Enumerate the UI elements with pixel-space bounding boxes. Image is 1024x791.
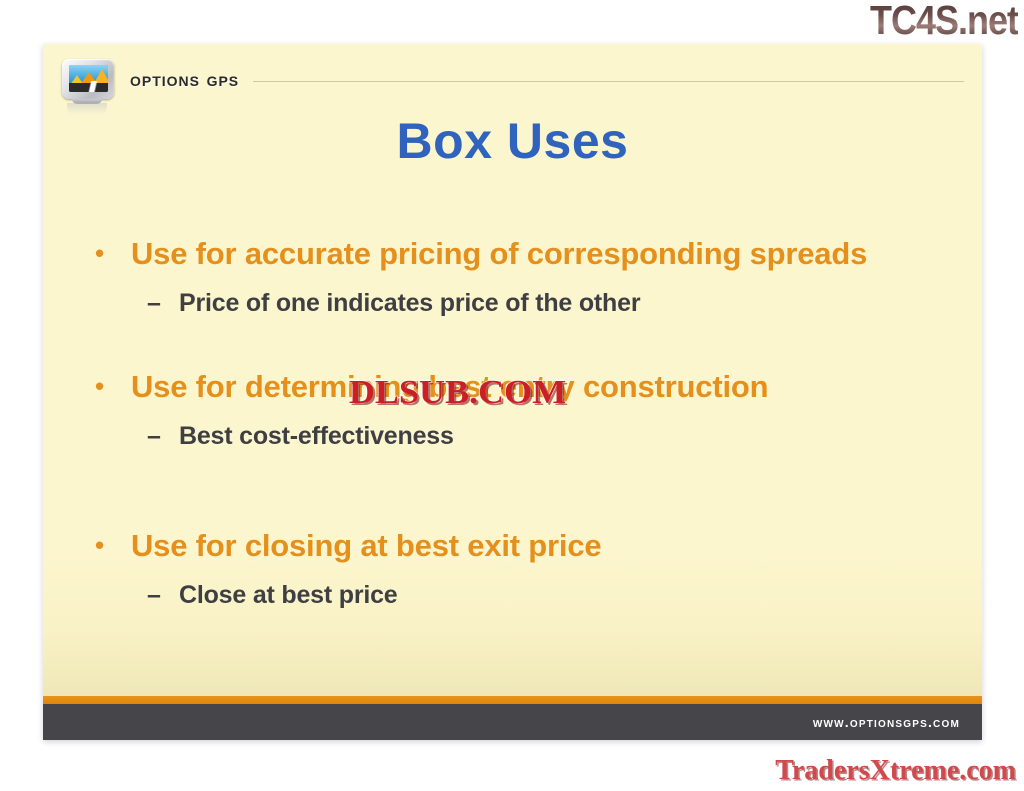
sub-bullet-item: – Close at best price bbox=[147, 577, 952, 613]
bullet-text: Use for determining best entry construct… bbox=[131, 365, 952, 408]
spacer bbox=[95, 408, 952, 418]
bullet-text: Use for closing at best exit price bbox=[131, 524, 952, 567]
spacer bbox=[95, 454, 952, 498]
slide-header: Options GPS bbox=[43, 44, 982, 116]
sub-bullet-text: Best cost-effectiveness bbox=[179, 418, 952, 454]
brand-wordmark: Options GPS bbox=[130, 69, 239, 92]
tradersxtreme-watermark: TradersXtreme.com bbox=[775, 755, 1016, 787]
bullet-item: • Use for closing at best exit price bbox=[95, 524, 952, 567]
bullet-marker: • bbox=[95, 232, 131, 275]
bullet-marker: • bbox=[95, 524, 131, 567]
bullet-text: Use for accurate pricing of correspondin… bbox=[131, 232, 952, 275]
bullet-item: • Use for determining best entry constru… bbox=[95, 365, 952, 408]
page-title: Box Uses bbox=[43, 112, 982, 170]
slide-footer: www.OptionsGPS.com bbox=[43, 696, 982, 740]
sub-bullet-marker: – bbox=[147, 577, 179, 613]
footer-accent-rule bbox=[43, 696, 982, 704]
gps-device-screen bbox=[69, 65, 108, 92]
sub-bullet-marker: – bbox=[147, 285, 179, 321]
sub-bullet-item: – Best cost-effectiveness bbox=[147, 418, 952, 454]
spacer bbox=[95, 321, 952, 365]
spacer bbox=[95, 498, 952, 524]
bullet-item: • Use for accurate pricing of correspond… bbox=[95, 232, 952, 275]
sub-bullet-item: – Price of one indicates price of the ot… bbox=[147, 285, 952, 321]
gps-device-icon bbox=[60, 58, 116, 102]
map-road bbox=[77, 81, 108, 92]
sub-bullet-text: Price of one indicates price of the othe… bbox=[179, 285, 952, 321]
footer-url: www.OptionsGPS.com bbox=[813, 714, 960, 730]
slide: Options GPS Box Uses • Use for accurate … bbox=[43, 44, 982, 740]
tc4s-watermark: TC4S.net bbox=[870, 0, 1018, 43]
sub-bullet-text: Close at best price bbox=[179, 577, 952, 613]
header-divider bbox=[253, 81, 964, 82]
slide-body: • Use for accurate pricing of correspond… bbox=[95, 232, 952, 613]
spacer bbox=[95, 275, 952, 285]
spacer bbox=[95, 567, 952, 577]
bullet-marker: • bbox=[95, 365, 131, 408]
footer-bar: www.OptionsGPS.com bbox=[43, 704, 982, 740]
sub-bullet-marker: – bbox=[147, 418, 179, 454]
